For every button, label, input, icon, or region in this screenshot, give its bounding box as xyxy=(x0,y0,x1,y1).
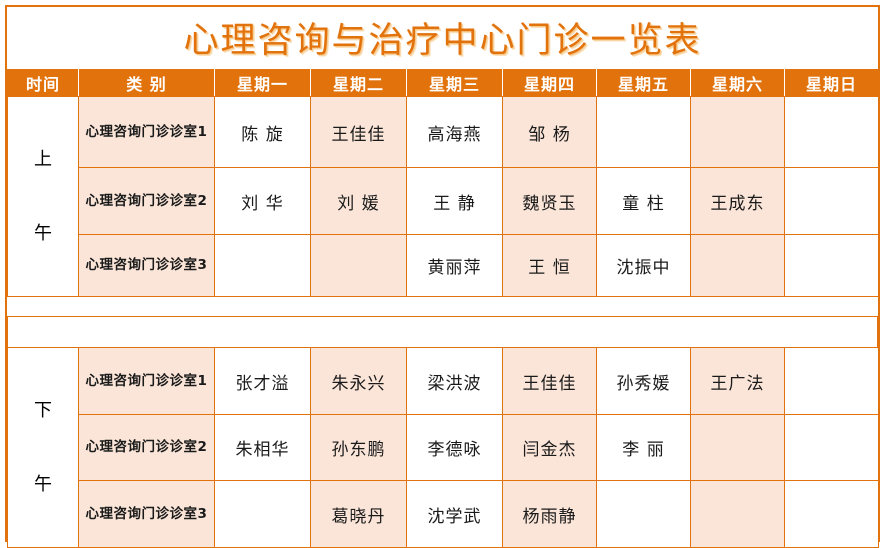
cell-afternoon-r2-monday: 朱相华 xyxy=(215,415,311,481)
schedule-header-table: 时间 类 别 星期一 星期二 星期三 星期四 星期五 星期六 星期日 xyxy=(7,68,879,97)
time-label-morning: 上 午 xyxy=(8,97,79,297)
cell-morning-r1-thursday: 邹 杨 xyxy=(503,97,597,168)
cell-afternoon-r1-thursday: 王佳佳 xyxy=(503,348,597,415)
section-spacer-table xyxy=(7,316,878,348)
category-label: 心理咨询门诊诊室2 xyxy=(79,168,215,235)
cell-afternoon-r3-monday xyxy=(215,481,311,548)
cell-morning-r2-thursday: 魏贤玉 xyxy=(503,168,597,235)
cell-morning-r3-tuesday xyxy=(311,235,407,297)
cell-afternoon-r1-saturday: 王广法 xyxy=(691,348,785,415)
cell-morning-r1-saturday xyxy=(691,97,785,168)
cell-afternoon-r3-wednesday: 沈学武 xyxy=(407,481,503,548)
afternoon-section-table: 下 午 心理咨询门诊诊室1 张才溢 朱永兴 梁洪波 王佳佳 孙秀媛 王广法 心理… xyxy=(7,347,879,548)
cell-afternoon-r1-monday: 张才溢 xyxy=(215,348,311,415)
column-header-time: 时间 xyxy=(8,69,79,97)
cell-morning-r3-friday: 沈振中 xyxy=(597,235,691,297)
cell-morning-r3-wednesday: 黄丽萍 xyxy=(407,235,503,297)
time-label-char-2: 午 xyxy=(34,225,52,243)
cell-morning-r3-monday xyxy=(215,235,311,297)
cell-morning-r2-tuesday: 刘 媛 xyxy=(311,168,407,235)
cell-morning-r1-tuesday: 王佳佳 xyxy=(311,97,407,168)
cell-afternoon-r3-thursday: 杨雨静 xyxy=(503,481,597,548)
cell-morning-r1-monday: 陈 旋 xyxy=(215,97,311,168)
table-frame: 心理咨询与治疗中心门诊一览表 时间 类 别 星期一 星期二 星期三 星期四 星期… xyxy=(5,5,880,542)
cell-afternoon-r3-tuesday: 葛晓丹 xyxy=(311,481,407,548)
table-row: 心理咨询门诊诊室3 葛晓丹 沈学武 杨雨静 xyxy=(8,481,879,548)
morning-section-table: 上 午 心理咨询门诊诊室1 陈 旋 王佳佳 高海燕 邹 杨 心理咨询门诊诊室2 … xyxy=(7,96,879,297)
spacer-cell xyxy=(8,317,878,348)
cell-afternoon-r3-saturday xyxy=(691,481,785,548)
cell-afternoon-r1-tuesday: 朱永兴 xyxy=(311,348,407,415)
column-header-sunday: 星期日 xyxy=(785,69,879,97)
time-label-afternoon: 下 午 xyxy=(8,348,79,548)
cell-morning-r3-saturday xyxy=(691,235,785,297)
cell-morning-r2-friday: 童 柱 xyxy=(597,168,691,235)
table-row: 心理咨询门诊诊室3 黄丽萍 王 恒 沈振中 xyxy=(8,235,879,297)
cell-afternoon-r2-wednesday: 李德咏 xyxy=(407,415,503,481)
cell-afternoon-r2-tuesday: 孙东鹏 xyxy=(311,415,407,481)
cell-afternoon-r2-sunday xyxy=(785,415,879,481)
cell-afternoon-r2-friday: 李 丽 xyxy=(597,415,691,481)
cell-morning-r2-monday: 刘 华 xyxy=(215,168,311,235)
cell-morning-r1-friday xyxy=(597,97,691,168)
table-row: 上 午 心理咨询门诊诊室1 陈 旋 王佳佳 高海燕 邹 杨 xyxy=(8,97,879,168)
category-label: 心理咨询门诊诊室1 xyxy=(79,348,215,415)
cell-morning-r2-sunday xyxy=(785,168,879,235)
table-row: 下 午 心理咨询门诊诊室1 张才溢 朱永兴 梁洪波 王佳佳 孙秀媛 王广法 xyxy=(8,348,879,415)
cell-afternoon-r2-thursday: 闫金杰 xyxy=(503,415,597,481)
cell-morning-r2-saturday: 王成东 xyxy=(691,168,785,235)
column-header-tuesday: 星期二 xyxy=(311,69,407,97)
time-label-char-2: 午 xyxy=(34,476,52,494)
cell-morning-r1-wednesday: 高海燕 xyxy=(407,97,503,168)
cell-morning-r1-sunday xyxy=(785,97,879,168)
spacer-row xyxy=(8,317,878,348)
cell-afternoon-r1-friday: 孙秀媛 xyxy=(597,348,691,415)
column-header-saturday: 星期六 xyxy=(691,69,785,97)
page-title: 心理咨询与治疗中心门诊一览表 xyxy=(183,12,701,63)
cell-afternoon-r3-sunday xyxy=(785,481,879,548)
time-label-char-1: 下 xyxy=(34,402,52,420)
cell-morning-r2-wednesday: 王 静 xyxy=(407,168,503,235)
cell-afternoon-r2-saturday xyxy=(691,415,785,481)
category-label: 心理咨询门诊诊室3 xyxy=(79,481,215,548)
category-label: 心理咨询门诊诊室1 xyxy=(79,97,215,168)
title-bar: 心理咨询与治疗中心门诊一览表 xyxy=(7,7,878,68)
table-row: 心理咨询门诊诊室2 刘 华 刘 媛 王 静 魏贤玉 童 柱 王成东 xyxy=(8,168,879,235)
cell-afternoon-r3-friday xyxy=(597,481,691,548)
cell-morning-r3-sunday xyxy=(785,235,879,297)
time-label-char-1: 上 xyxy=(34,151,52,169)
table-row: 心理咨询门诊诊室2 朱相华 孙东鹏 李德咏 闫金杰 李 丽 xyxy=(8,415,879,481)
column-header-wednesday: 星期三 xyxy=(407,69,503,97)
cell-afternoon-r1-sunday xyxy=(785,348,879,415)
schedule-page: 心理咨询与治疗中心门诊一览表 时间 类 别 星期一 星期二 星期三 星期四 星期… xyxy=(0,0,885,548)
column-header-category: 类 别 xyxy=(79,69,215,97)
column-header-friday: 星期五 xyxy=(597,69,691,97)
column-header-thursday: 星期四 xyxy=(503,69,597,97)
cell-afternoon-r1-wednesday: 梁洪波 xyxy=(407,348,503,415)
cell-morning-r3-thursday: 王 恒 xyxy=(503,235,597,297)
category-label: 心理咨询门诊诊室3 xyxy=(79,235,215,297)
column-header-monday: 星期一 xyxy=(215,69,311,97)
category-label: 心理咨询门诊诊室2 xyxy=(79,415,215,481)
header-row: 时间 类 别 星期一 星期二 星期三 星期四 星期五 星期六 星期日 xyxy=(8,69,879,97)
